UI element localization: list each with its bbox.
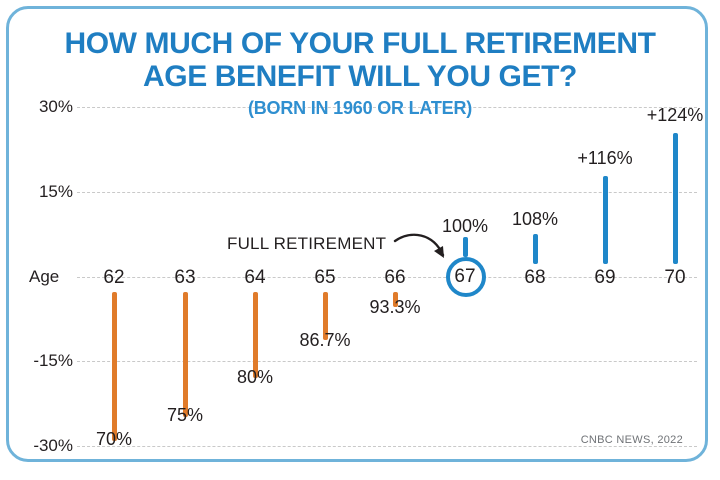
age-label-67: 67 xyxy=(439,266,491,288)
bar-age-70[interactable] xyxy=(673,133,678,264)
value-label-66: 93.3% xyxy=(350,297,440,318)
bar-age-69[interactable] xyxy=(603,176,608,264)
age-label-62: 62 xyxy=(88,267,140,289)
value-label-63: 75% xyxy=(140,405,230,426)
age-label-66: 66 xyxy=(369,267,421,289)
age-label-65: 65 xyxy=(299,267,351,289)
value-label-64: 80% xyxy=(210,367,300,388)
gridline-30 xyxy=(77,107,697,108)
bar-age-63[interactable] xyxy=(183,292,188,417)
ytick-label-neg15: -15% xyxy=(9,351,73,371)
gridline-neg15 xyxy=(77,361,697,362)
full-retirement-annotation-label: FULL RETIREMENT xyxy=(227,234,386,254)
bar-age-68[interactable] xyxy=(533,234,538,264)
ytick-label-15: 15% xyxy=(9,182,73,202)
bar-age-62[interactable] xyxy=(112,292,117,441)
source-attribution: CNBC NEWS, 2022 xyxy=(581,434,683,446)
gridline-neg30 xyxy=(77,446,697,447)
value-label-65: 86.7% xyxy=(280,330,370,351)
infographic-card: 30% 15% -15% -30% Age 62 63 64 65 66 67 … xyxy=(6,6,708,462)
age-label-63: 63 xyxy=(159,267,211,289)
value-label-62: 70% xyxy=(69,429,159,450)
age-label-69: 69 xyxy=(579,267,631,289)
age-label-68: 68 xyxy=(509,267,561,289)
chart-plot-area: 30% 15% -15% -30% Age 62 63 64 65 66 67 … xyxy=(9,9,708,462)
ytick-label-30: 30% xyxy=(9,97,73,117)
value-label-70: +124% xyxy=(630,105,708,126)
value-label-69: +116% xyxy=(560,148,650,169)
age-label-64: 64 xyxy=(229,267,281,289)
value-label-68: 108% xyxy=(490,209,580,230)
curved-arrow-icon xyxy=(393,231,455,269)
ytick-label-neg30: -30% xyxy=(9,436,73,456)
age-label-70: 70 xyxy=(649,267,701,289)
bar-age-64[interactable] xyxy=(253,292,258,378)
age-axis-title: Age xyxy=(29,267,59,287)
bar-age-67[interactable] xyxy=(463,237,468,257)
